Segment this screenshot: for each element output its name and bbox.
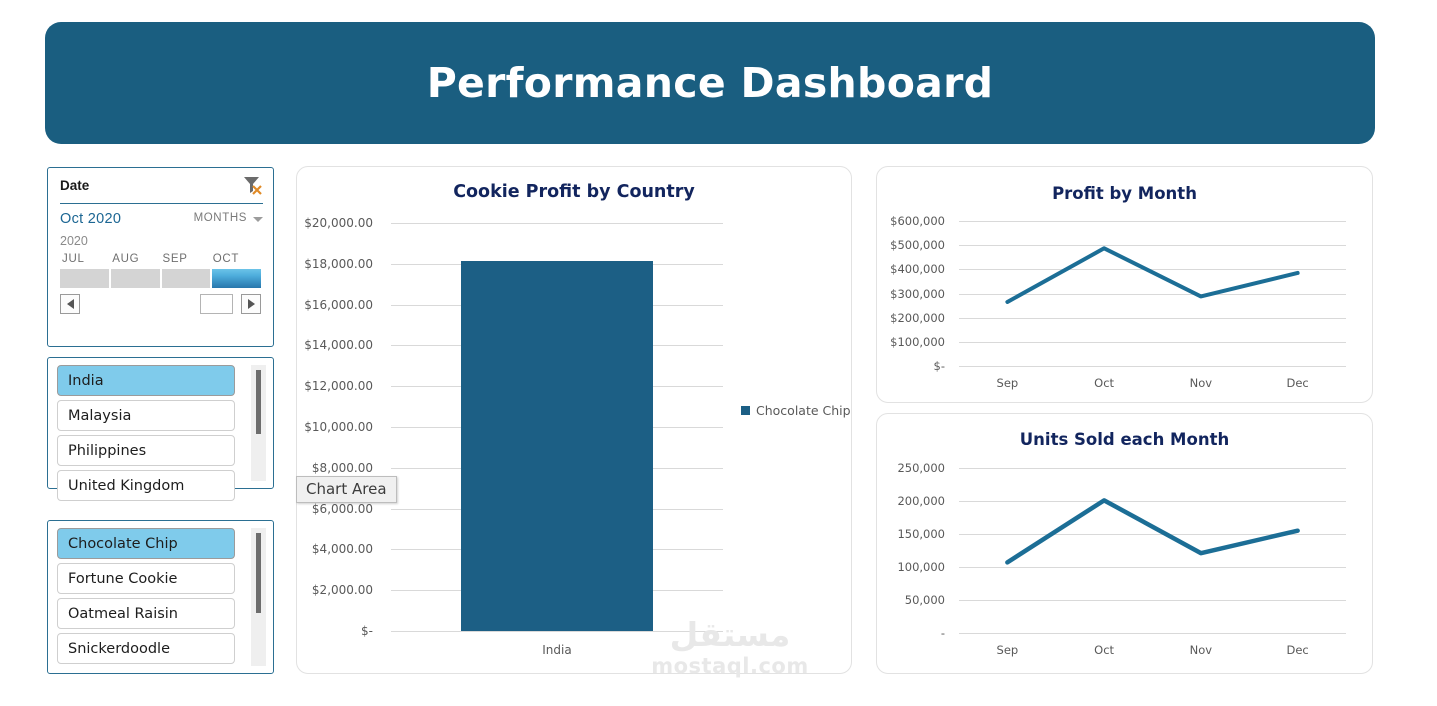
timeline-month-cell-aug[interactable]: [111, 269, 160, 288]
y-axis-tick-label: $12,000.00: [297, 379, 373, 393]
x-axis-category-label: Sep: [959, 643, 1056, 657]
y-axis-tick-label: $8,000.00: [297, 461, 373, 475]
dashboard-header-banner: Performance Dashboard: [45, 22, 1375, 144]
timeline-header: Date: [60, 174, 263, 204]
timeline-month-label: SEP: [161, 253, 211, 265]
y-axis-tick-label: $2,000.00: [297, 583, 373, 597]
slicer-item-oatmeal-raisin[interactable]: Oatmeal Raisin: [57, 598, 235, 629]
slicer-item-fortune-cookie[interactable]: Fortune Cookie: [57, 563, 235, 594]
y-axis-tick-label: $4,000.00: [297, 542, 373, 556]
legend-swatch-icon: [741, 406, 750, 415]
clear-filter-icon[interactable]: [241, 174, 263, 196]
units-line-plot-area[interactable]: 250,000200,000150,000100,00050,000-SepOc…: [877, 414, 1372, 673]
bar-series-chocolate-chip[interactable]: [461, 261, 654, 631]
timeline-scroll-track[interactable]: [200, 294, 233, 314]
dashboard-page: Performance Dashboard Date Oct 2020 MONT…: [0, 0, 1437, 706]
y-axis-tick-label: $20,000.00: [297, 216, 373, 230]
y-axis-tick-label: $-: [297, 624, 373, 638]
x-axis-category-label: Oct: [1056, 376, 1153, 390]
cookie-profit-by-country-card[interactable]: Cookie Profit by Country $20,000.00$18,0…: [296, 166, 852, 674]
slicer-item-united-kingdom[interactable]: United Kingdom: [57, 470, 235, 501]
country-slicer-scrollbar[interactable]: [251, 365, 266, 481]
scrollbar-thumb[interactable]: [256, 370, 261, 434]
chart-area-tooltip: Chart Area: [296, 476, 397, 503]
product-slicer[interactable]: Chocolate Chip Fortune Cookie Oatmeal Ra…: [47, 520, 274, 674]
timeline-title: Date: [60, 174, 263, 198]
legend-label: Chocolate Chip: [756, 403, 851, 418]
slicer-item-malaysia[interactable]: Malaysia: [57, 400, 235, 431]
x-axis-category-label: Sep: [959, 376, 1056, 390]
timeline-month-labels: JUL AUG SEP OCT: [60, 253, 261, 265]
bar-chart-plot-area[interactable]: $20,000.00$18,000.00$16,000.00$14,000.00…: [297, 209, 853, 675]
date-timeline-slicer[interactable]: Date Oct 2020 MONTHS 2020 JUL AUG SEP OC…: [47, 167, 274, 347]
units-sold-each-month-card[interactable]: Units Sold each Month 250,000200,000150,…: [876, 413, 1373, 674]
timeline-navigation: [60, 294, 261, 316]
timeline-month-cell-sep[interactable]: [162, 269, 211, 288]
timeline-month-label: OCT: [211, 253, 261, 265]
y-axis-tick-label: $18,000.00: [297, 257, 373, 271]
scrollbar-thumb[interactable]: [256, 533, 261, 613]
product-slicer-items: Chocolate Chip Fortune Cookie Oatmeal Ra…: [57, 528, 235, 664]
timeline-scroll-right-button[interactable]: [241, 294, 261, 314]
y-axis-tick-label: $14,000.00: [297, 338, 373, 352]
triangle-left-icon: [67, 299, 74, 309]
line-series-path[interactable]: [877, 167, 1374, 404]
slicer-item-philippines[interactable]: Philippines: [57, 435, 235, 466]
profit-line-plot-area[interactable]: $600,000$500,000$400,000$300,000$200,000…: [877, 167, 1372, 402]
slicer-item-chocolate-chip[interactable]: Chocolate Chip: [57, 528, 235, 559]
timeline-selected-period: Oct 2020: [60, 211, 121, 227]
chart-legend[interactable]: Chocolate Chip: [741, 403, 851, 418]
timeline-month-cell-oct[interactable]: [212, 269, 261, 288]
y-axis-tick-label: $16,000.00: [297, 298, 373, 312]
product-slicer-scrollbar[interactable]: [251, 528, 266, 666]
x-axis-category-label: Nov: [1153, 643, 1250, 657]
timeline-level-label[interactable]: MONTHS: [194, 212, 247, 224]
x-axis-category-label: India: [391, 643, 723, 657]
x-axis-category-label: Oct: [1056, 643, 1153, 657]
timeline-period-row: Oct 2020 MONTHS: [60, 210, 263, 230]
slicer-item-snickerdoodle[interactable]: Snickerdoodle: [57, 633, 235, 664]
y-axis-tick-label: $10,000.00: [297, 420, 373, 434]
gridline: [391, 631, 723, 632]
slicer-item-india[interactable]: India: [57, 365, 235, 396]
line-series-path[interactable]: [877, 414, 1374, 675]
country-slicer[interactable]: India Malaysia Philippines United Kingdo…: [47, 357, 274, 489]
timeline-scroll-left-button[interactable]: [60, 294, 80, 314]
page-title: Performance Dashboard: [427, 59, 994, 107]
timeline-month-label: AUG: [110, 253, 160, 265]
timeline-year-label: 2020: [60, 234, 261, 248]
x-axis-category-label: Dec: [1249, 376, 1346, 390]
y-axis-tick-label: $6,000.00: [297, 502, 373, 516]
gridline: [391, 223, 723, 224]
timeline-month-bars: [60, 269, 261, 288]
timeline-month-cell-jul[interactable]: [60, 269, 109, 288]
country-slicer-items: India Malaysia Philippines United Kingdo…: [57, 365, 235, 501]
x-axis-category-label: Dec: [1249, 643, 1346, 657]
chart-title: Cookie Profit by Country: [297, 182, 851, 202]
timeline-month-label: JUL: [60, 253, 110, 265]
x-axis-category-label: Nov: [1153, 376, 1250, 390]
profit-by-month-card[interactable]: Profit by Month $600,000$500,000$400,000…: [876, 166, 1373, 403]
triangle-right-icon: [248, 299, 255, 309]
chevron-down-icon[interactable]: [253, 217, 263, 222]
